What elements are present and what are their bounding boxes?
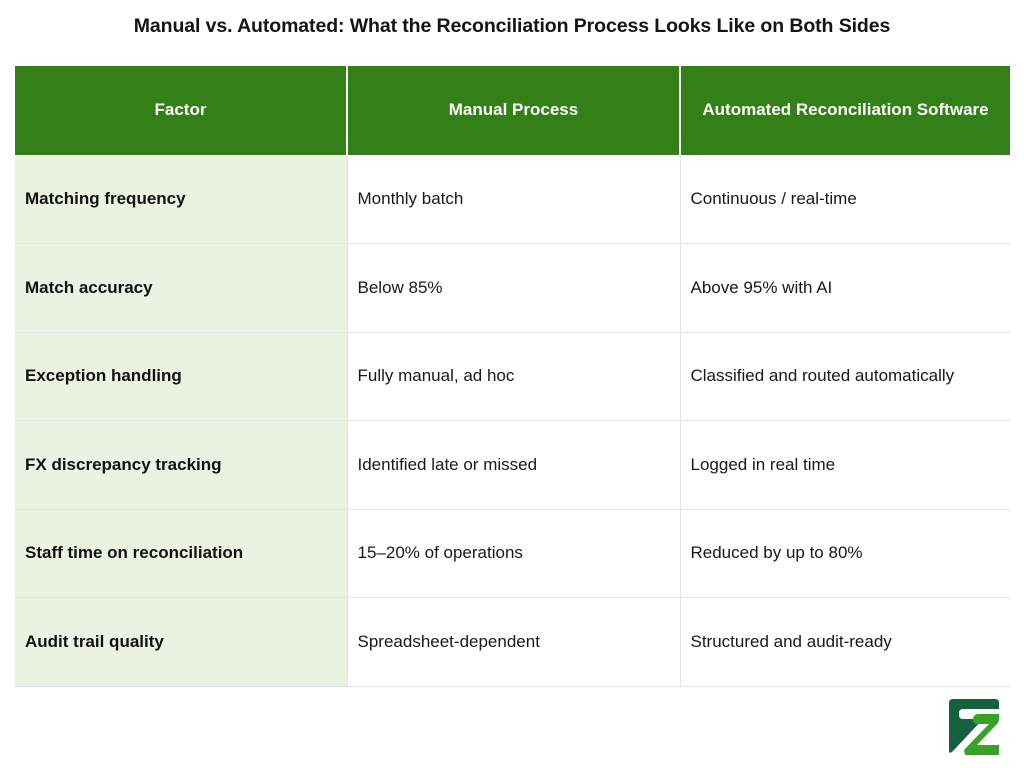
table-body: Matching frequency Monthly batch Continu… — [15, 155, 1010, 686]
table-row: Audit trail quality Spreadsheet-dependen… — [15, 598, 1010, 687]
page-root: Manual vs. Automated: What the Reconcili… — [0, 0, 1024, 768]
cell-automated: Structured and audit-ready — [680, 598, 1010, 687]
table-row: Staff time on reconciliation 15–20% of o… — [15, 509, 1010, 598]
column-header-automated-software: Automated Reconciliation Software — [680, 66, 1010, 155]
cell-factor: Exception handling — [15, 332, 347, 421]
table-row: FX discrepancy tracking Identified late … — [15, 421, 1010, 510]
cell-manual: Identified late or missed — [347, 421, 680, 510]
cell-manual: Monthly batch — [347, 155, 680, 244]
cell-factor: FX discrepancy tracking — [15, 421, 347, 510]
column-header-factor: Factor — [15, 66, 347, 155]
cell-automated: Reduced by up to 80% — [680, 509, 1010, 598]
cell-automated: Classified and routed automatically — [680, 332, 1010, 421]
fz-monogram-logo: FZ monogram logo — [943, 698, 1005, 756]
table-header: Factor Manual Process Automated Reconcil… — [15, 66, 1010, 155]
comparison-table: Factor Manual Process Automated Reconcil… — [15, 66, 1010, 687]
cell-automated: Logged in real time — [680, 421, 1010, 510]
table-header-row: Factor Manual Process Automated Reconcil… — [15, 66, 1010, 155]
cell-factor: Audit trail quality — [15, 598, 347, 687]
cell-factor: Staff time on reconciliation — [15, 509, 347, 598]
cell-manual: Below 85% — [347, 244, 680, 333]
cell-automated: Above 95% with AI — [680, 244, 1010, 333]
table-row: Exception handling Fully manual, ad hoc … — [15, 332, 1010, 421]
fz-monogram-icon: FZ monogram logo — [943, 698, 1005, 756]
cell-automated: Continuous / real-time — [680, 155, 1010, 244]
column-header-manual-process: Manual Process — [347, 66, 680, 155]
cell-factor: Match accuracy — [15, 244, 347, 333]
table-row: Matching frequency Monthly batch Continu… — [15, 155, 1010, 244]
table-row: Match accuracy Below 85% Above 95% with … — [15, 244, 1010, 333]
page-title: Manual vs. Automated: What the Reconcili… — [0, 14, 1024, 39]
cell-factor: Matching frequency — [15, 155, 347, 244]
cell-manual: Spreadsheet-dependent — [347, 598, 680, 687]
cell-manual: 15–20% of operations — [347, 509, 680, 598]
cell-manual: Fully manual, ad hoc — [347, 332, 680, 421]
